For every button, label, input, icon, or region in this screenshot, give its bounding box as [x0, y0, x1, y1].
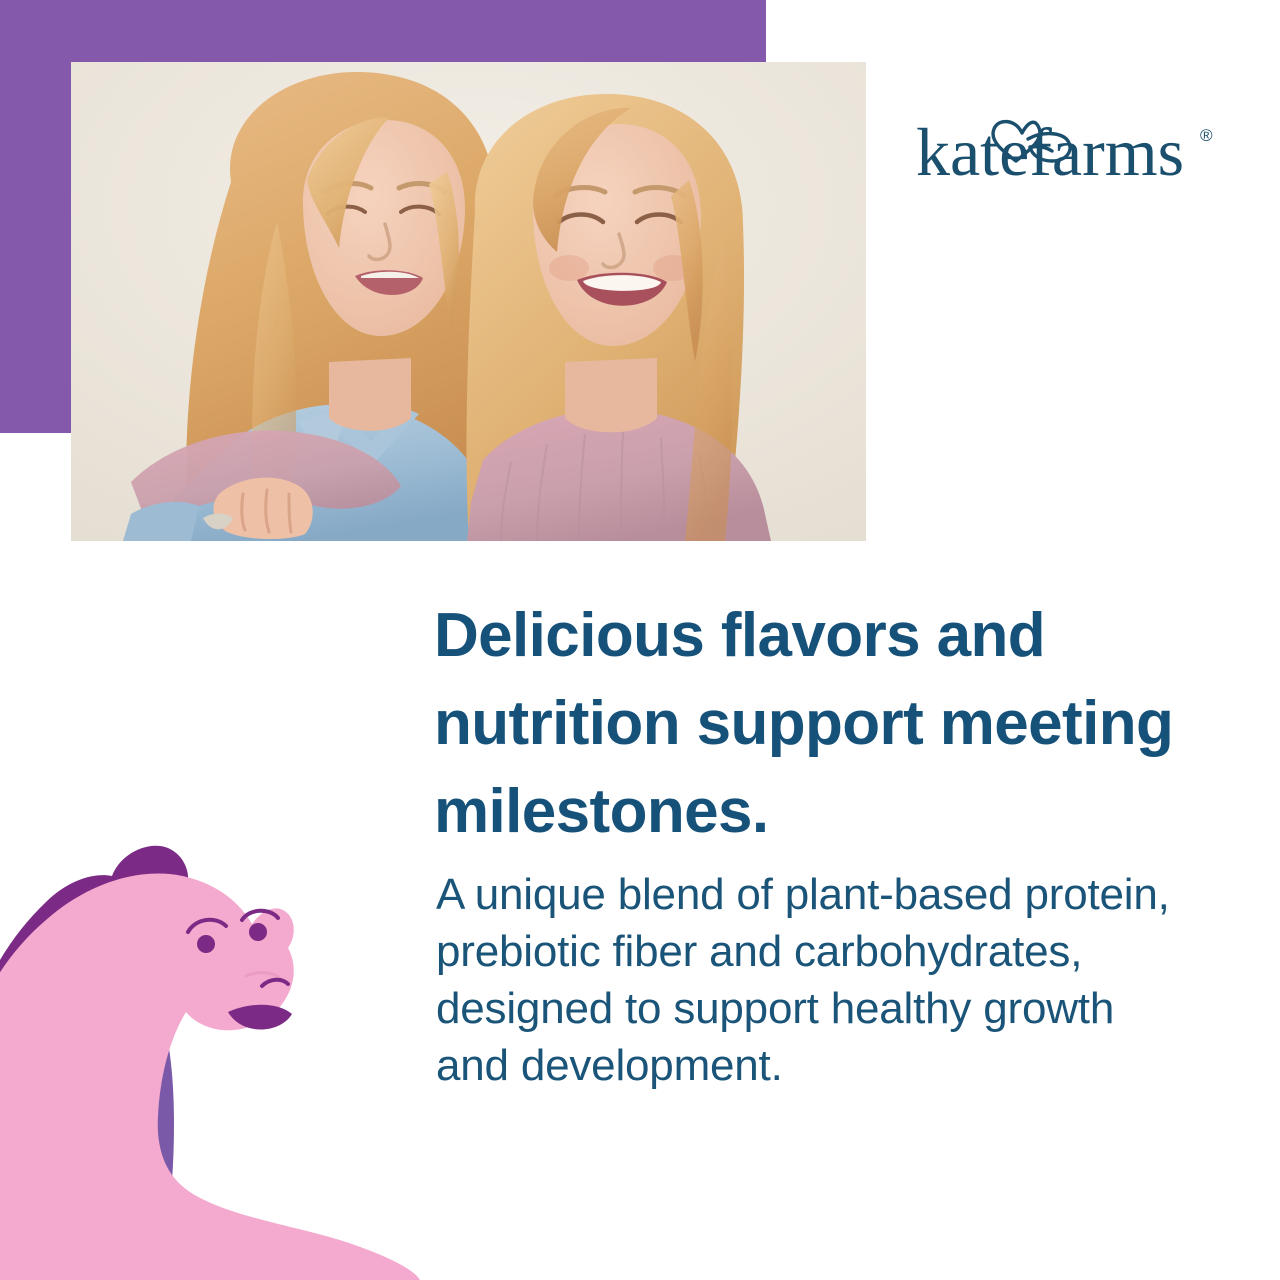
logo-wordmark: katefarms: [916, 114, 1184, 190]
body-paragraph: A unique blend of plant-based protein, p…: [436, 866, 1196, 1094]
promo-canvas: katefarms ® Delicious flavors and nutrit…: [0, 0, 1280, 1280]
dinosaur-mascot: [0, 826, 420, 1280]
page-title: Delicious flavors and nutrition support …: [434, 592, 1194, 856]
hero-photo: [71, 62, 866, 541]
trademark-symbol: ®: [1200, 126, 1213, 145]
brand-logo[interactable]: katefarms ®: [916, 105, 1236, 187]
